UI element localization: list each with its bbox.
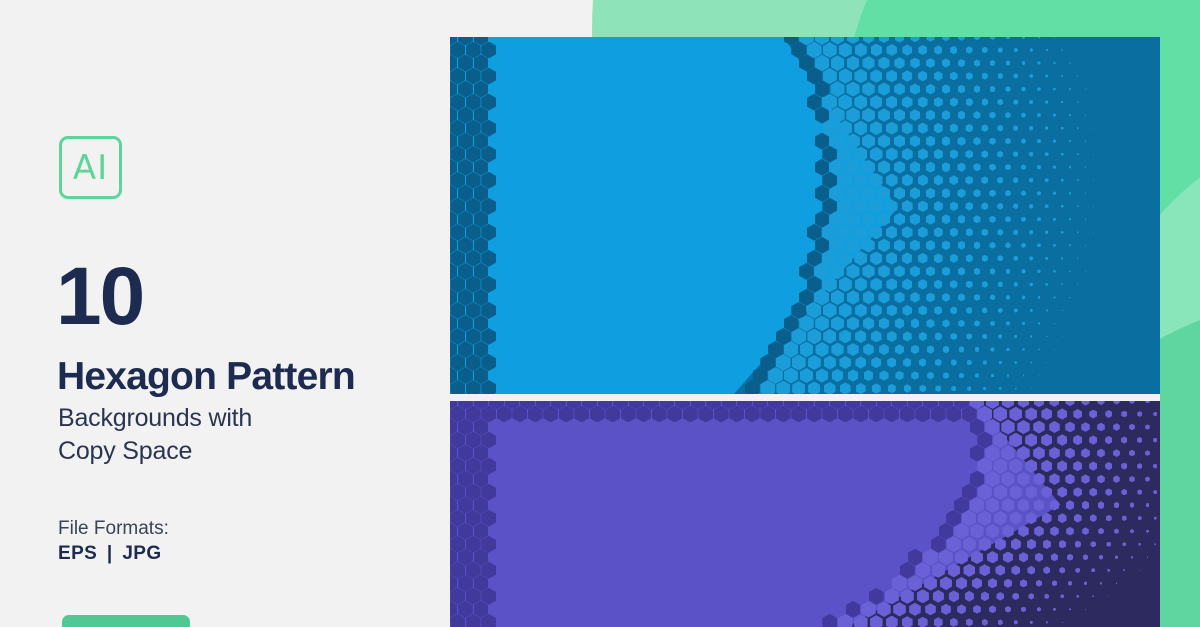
page-title: Hexagon Pattern [57,355,355,399]
cta-button[interactable] [62,615,190,627]
file-format-eps: EPS [58,543,97,564]
page-subtitle-line-2: Copy Space [58,435,252,468]
info-panel: AI 10 Hexagon Pattern Backgrounds with C… [0,0,450,627]
purple-halftone-pattern [450,401,1160,627]
item-count: 10 [56,256,143,338]
page-subtitle: Backgrounds with Copy Space [58,402,252,468]
file-formats-value: EPS | JPG [58,542,162,566]
purple-hexagon-preview[interactable] [450,401,1160,627]
card-gap-divider [450,394,1160,401]
file-formats-label: File Formats: [58,517,169,541]
preview-banner: AI 10 Hexagon Pattern Backgrounds with C… [0,0,1200,627]
ai-format-badge: AI [59,136,122,199]
file-format-jpg: JPG [122,543,161,564]
blue-halftone-pattern [450,37,1160,394]
ai-badge-label: AI [73,151,108,185]
file-format-separator: | [103,543,117,564]
page-subtitle-line-1: Backgrounds with [58,402,252,435]
blue-hexagon-preview[interactable] [450,37,1160,394]
